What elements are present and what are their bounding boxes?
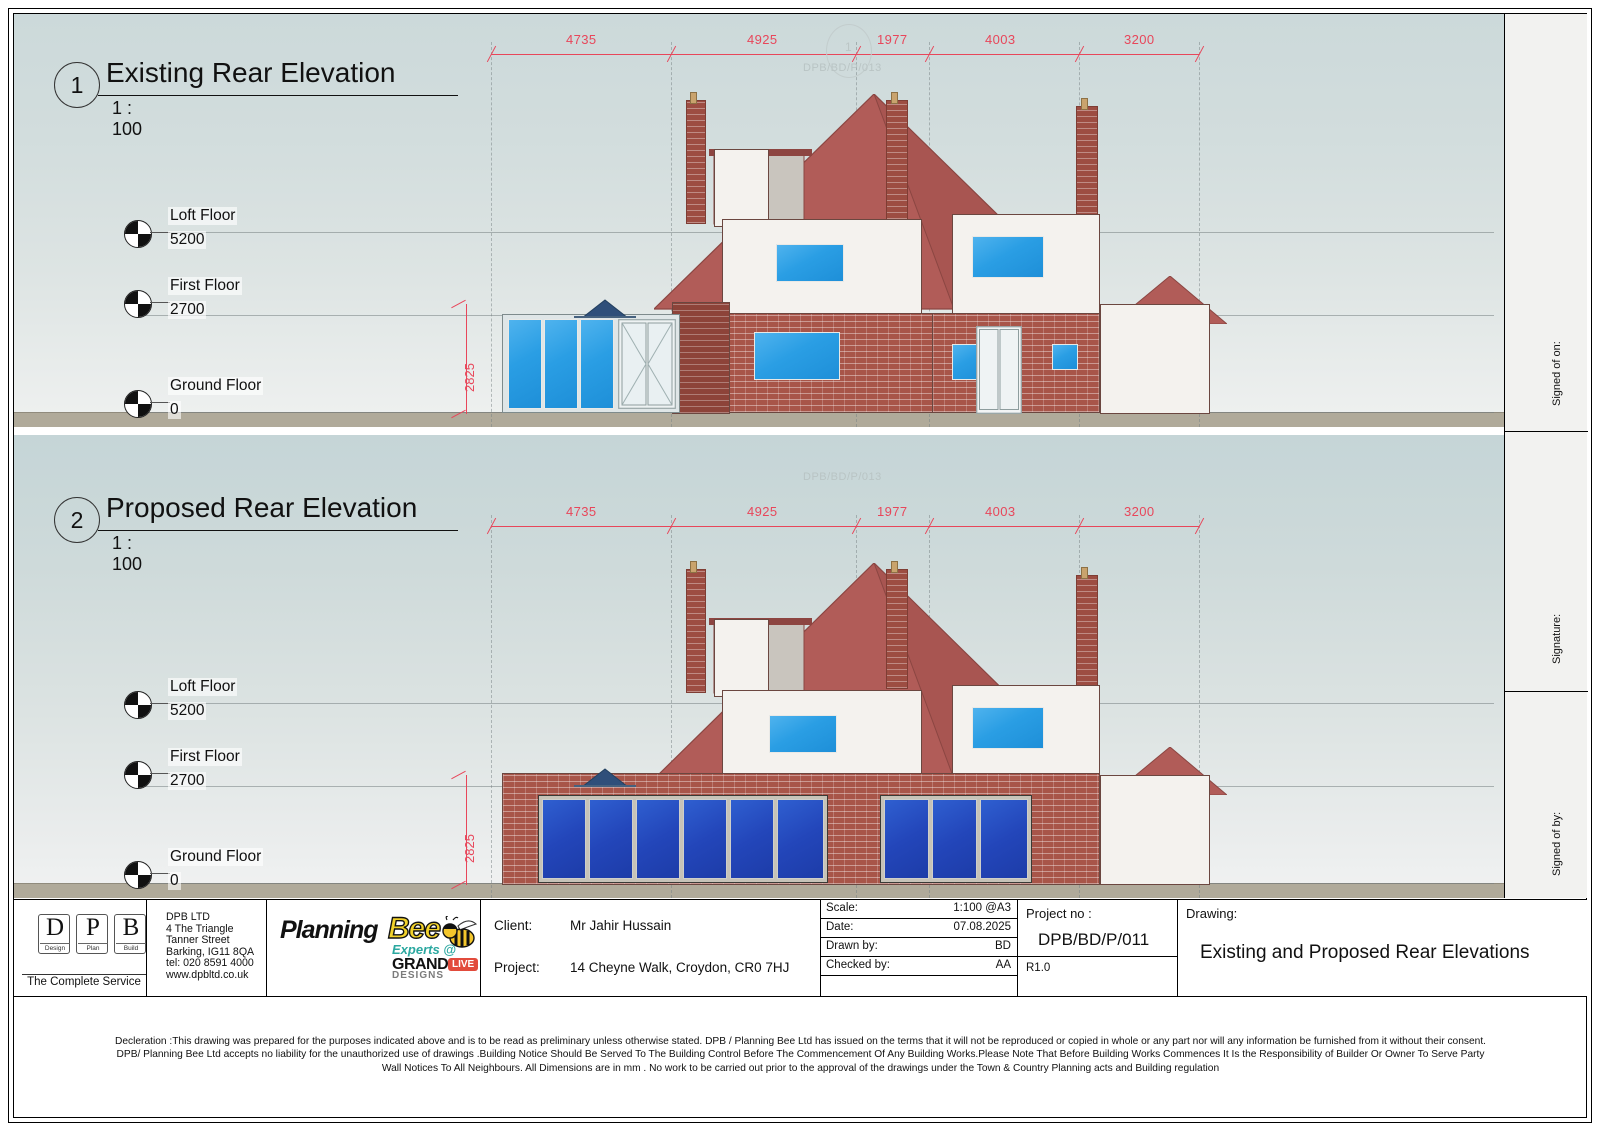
address-line-6: www.dpbltd.co.uk	[166, 970, 254, 982]
chimney-pot-right-existing	[1081, 98, 1088, 110]
meta-value-checked-by: AA	[996, 959, 1011, 971]
conservatory-glazing-1-existing	[508, 319, 542, 409]
level-name-first-existing: First Floor	[168, 277, 242, 295]
bifold-pane-2-proposed[interactable]	[589, 799, 633, 879]
return-wall-existing	[672, 302, 730, 414]
wall-right-wing-proposed	[1100, 775, 1210, 885]
dimension-line-proposed	[491, 526, 1199, 527]
dpb-logo: D Design P Plan B Build	[38, 914, 146, 958]
view-number-bubble-existing: 1	[54, 62, 100, 108]
meta-row-drawn-by: Drawn by: BD	[821, 938, 1017, 957]
conservatory-french-doors-existing[interactable]	[618, 319, 676, 409]
dimension-text-4-existing: 4003	[985, 32, 1016, 47]
planning-bee-designs-line: DESIGNS	[392, 970, 444, 981]
logo-sublabel-plan: Plan	[78, 943, 108, 952]
chimney-pot-right-proposed	[1081, 567, 1088, 579]
declaration-block: Decleration :This drawing was prepared f…	[14, 996, 1587, 1118]
meta-key-checked-by: Checked by:	[826, 959, 890, 971]
level-value-loft-proposed: 5200	[168, 702, 206, 720]
gridline-F	[491, 42, 492, 427]
dpb-logo-tagline: The Complete Service	[22, 974, 146, 988]
level-name-loft-proposed: Loft Floor	[168, 678, 237, 696]
window-ground-right-existing[interactable]	[1052, 344, 1078, 370]
window-first-floor-right-existing[interactable]	[972, 236, 1044, 278]
chimney-pot-left-proposed	[690, 561, 697, 573]
logo-letter-b: B	[115, 914, 147, 942]
gridline-F-proposed	[491, 515, 492, 898]
client-value: Mr Jahir Hussain	[570, 918, 671, 933]
view-title-rule-proposed	[98, 530, 458, 531]
viewport-existing-rear-elevation[interactable]: 4735 4925 1977 4003 3200 2825 1 Existing…	[14, 14, 1504, 427]
dimension-text-4-proposed: 4003	[985, 504, 1016, 519]
bifold-pane-4-proposed[interactable]	[683, 799, 727, 879]
logo-box-plan: P Plan	[76, 914, 108, 954]
company-address: DPB LTD 4 The Triangle Tanner Street Bar…	[166, 912, 254, 982]
level-leader-line	[150, 873, 170, 874]
level-name-loft-existing: Loft Floor	[168, 207, 237, 225]
chimney-pot-mid-existing	[891, 92, 898, 104]
right-label-signature: Signature:	[1551, 614, 1563, 664]
meta-row-date: Date: 07.08.2025	[821, 919, 1017, 938]
right-cell-signature[interactable]: Signature:	[1505, 432, 1588, 692]
address-line-1: DPB LTD	[166, 912, 254, 924]
dimension-text-1-existing: 4735	[566, 32, 597, 47]
v-dim-tick-top-proposed	[451, 771, 466, 779]
right-margin-strip: Signed of on: Signature: Signed of by:	[1504, 14, 1587, 898]
dormer-proposed	[714, 619, 769, 697]
drawing-label: Drawing:	[1186, 906, 1237, 921]
logo-box-build: B Build	[114, 914, 146, 954]
right-cell-signed-of-on[interactable]: Signed of on:	[1505, 14, 1588, 432]
conservatory-glazing-2-existing	[544, 319, 578, 409]
meta-value-scale: 1:100 @A3	[953, 902, 1011, 914]
meta-key-scale: Scale:	[826, 902, 858, 914]
bifold-pane-7-proposed[interactable]	[884, 799, 929, 879]
callout-ghost-number-existing: 1	[845, 40, 852, 54]
planning-bee-logo: Planning Bee Experts @ GRAND DESIGNS LIV…	[280, 912, 480, 982]
vertical-dimension-text-existing: 2825	[462, 363, 477, 392]
project-no-value: DPB/BD/P/011	[1038, 930, 1149, 950]
level-leader-line	[150, 773, 170, 774]
vertical-dimension-text-proposed: 2825	[462, 834, 477, 863]
bifold-pane-9-proposed[interactable]	[980, 799, 1028, 879]
meta-key-drawn-by: Drawn by:	[826, 940, 878, 952]
bifold-pane-8-proposed[interactable]	[932, 799, 977, 879]
dimension-text-3-existing: 1977	[877, 32, 908, 47]
logo-box-design: D Design	[38, 914, 70, 954]
declaration-line-1: Decleration :This drawing was prepared f…	[48, 1035, 1553, 1048]
chimney-right-proposed	[1076, 575, 1098, 695]
declaration-line-3: Wall Notices To All Neighbours. All Dime…	[48, 1062, 1553, 1075]
logo-letter-p: P	[77, 914, 109, 942]
chimney-pot-left-existing	[690, 92, 697, 104]
level-value-ground-proposed: 0	[168, 872, 181, 890]
level-symbol-icon	[124, 220, 152, 248]
planning-bee-word-planning: Planning	[280, 916, 378, 945]
window-first-floor-centre-proposed[interactable]	[769, 715, 837, 753]
chimney-mid-proposed	[886, 569, 908, 689]
dimension-text-2-proposed: 4925	[747, 504, 778, 519]
view-number-bubble-proposed: 2	[54, 497, 100, 543]
project-value: 14 Cheyne Walk, Croydon, CR0 7HJ	[570, 960, 789, 975]
dimension-text-3-proposed: 1977	[877, 504, 908, 519]
level-symbol-icon	[124, 290, 152, 318]
meta-key-date: Date:	[826, 921, 854, 933]
view-scale-proposed: 1 : 100	[112, 533, 142, 575]
level-leader-line	[150, 402, 170, 403]
right-label-signed-of-on: Signed of on:	[1551, 341, 1563, 406]
vertical-dimension-line-proposed	[466, 775, 467, 885]
ground-line-existing	[14, 412, 1504, 427]
viewport-proposed-rear-elevation[interactable]: 4735 4925 1977 4003 3200 2825 2 Proposed…	[14, 435, 1504, 898]
tb-sep-6	[1177, 900, 1178, 997]
meta-row-scale: Scale: 1:100 @A3	[821, 900, 1017, 919]
level-name-first-proposed: First Floor	[168, 748, 242, 766]
logo-sublabel-build: Build	[116, 943, 146, 952]
vertical-dimension-line-existing	[466, 304, 467, 414]
project-label: Project:	[494, 960, 540, 975]
wall-right-wing-existing	[1100, 304, 1210, 414]
callout-ghost-ref-existing: DPB/BD/P/013	[803, 62, 882, 74]
level-value-first-proposed: 2700	[168, 772, 206, 790]
chimney-left-existing	[686, 100, 706, 224]
view-title-text-proposed: Proposed Rear Elevation	[106, 492, 417, 524]
title-block: D Design P Plan B Build The Complete Ser…	[14, 899, 1587, 996]
bifold-pane-5-proposed[interactable]	[730, 799, 774, 879]
chimney-left-proposed	[686, 569, 706, 693]
level-leader-line	[150, 232, 170, 233]
chimney-right-existing	[1076, 106, 1098, 226]
bee-icon	[438, 916, 482, 960]
extension-lantern-proposed	[574, 767, 636, 787]
project-no-label: Project no :	[1026, 906, 1092, 921]
bifold-pane-1-proposed[interactable]	[542, 799, 586, 879]
level-leader-line	[150, 703, 170, 704]
meta-value-drawn-by: BD	[995, 940, 1011, 952]
level-value-first-existing: 2700	[168, 301, 206, 319]
window-mullion-a-existing	[776, 244, 844, 282]
drawing-value: Existing and Proposed Rear Elevations	[1200, 942, 1530, 964]
v-dim-tick-top-existing	[451, 300, 466, 308]
level-value-loft-existing: 5200	[168, 231, 206, 249]
conservatory-lantern-existing	[574, 298, 636, 318]
dormer-existing	[714, 149, 769, 227]
callout-ghost-ref-proposed: DPB/BD/P/013	[803, 471, 882, 483]
dimension-text-1-proposed: 4735	[566, 504, 597, 519]
window-first-floor-right-proposed[interactable]	[972, 707, 1044, 749]
logo-letter-d: D	[39, 914, 71, 942]
level-value-ground-existing: 0	[168, 401, 181, 419]
project-no-divider	[1017, 956, 1177, 957]
level-symbol-icon	[124, 691, 152, 719]
tb-sep-5	[1017, 900, 1018, 997]
level-symbol-icon	[124, 390, 152, 418]
drawing-sheet: 4735 4925 1977 4003 3200 2825 1 Existing…	[0, 0, 1600, 1131]
dimension-text-5-proposed: 3200	[1124, 504, 1155, 519]
bifold-pane-3-proposed[interactable]	[636, 799, 680, 879]
level-symbol-icon	[124, 861, 152, 889]
level-leader-line	[150, 302, 170, 303]
window-ground-centre-existing[interactable]	[754, 332, 840, 380]
rear-door-existing[interactable]	[976, 326, 1022, 414]
dimension-text-5-existing: 3200	[1124, 32, 1155, 47]
planning-bee-word-bee: Bee	[388, 912, 440, 946]
logo-sublabel-design: Design	[40, 943, 70, 952]
dimension-text-2-existing: 4925	[747, 32, 778, 47]
conservatory-glazing-3-existing	[580, 319, 614, 409]
meta-value-date: 07.08.2025	[953, 921, 1011, 933]
right-cell-signed-of-by[interactable]: Signed of by:	[1505, 692, 1588, 897]
view-title-rule-existing	[98, 95, 458, 96]
level-name-ground-existing: Ground Floor	[168, 377, 263, 395]
meta-row-checked-by: Checked by: AA	[821, 957, 1017, 976]
revision-value: R1.0	[1026, 962, 1050, 974]
right-label-signed-of-by: Signed of by:	[1551, 812, 1563, 876]
bifold-pane-6-proposed[interactable]	[777, 799, 824, 879]
declaration-line-2: DPB/ Planning Bee Ltd accepts no liabili…	[48, 1048, 1553, 1061]
chimney-mid-existing	[886, 100, 908, 220]
client-label: Client:	[494, 918, 532, 933]
chimney-pot-mid-proposed	[891, 561, 898, 573]
level-name-ground-proposed: Ground Floor	[168, 848, 263, 866]
level-symbol-icon	[124, 761, 152, 789]
view-title-text-existing: Existing Rear Elevation	[106, 57, 395, 89]
ground-line-proposed	[14, 883, 1504, 898]
view-scale-existing: 1 : 100	[112, 98, 142, 140]
tb-sep-2	[266, 900, 267, 997]
